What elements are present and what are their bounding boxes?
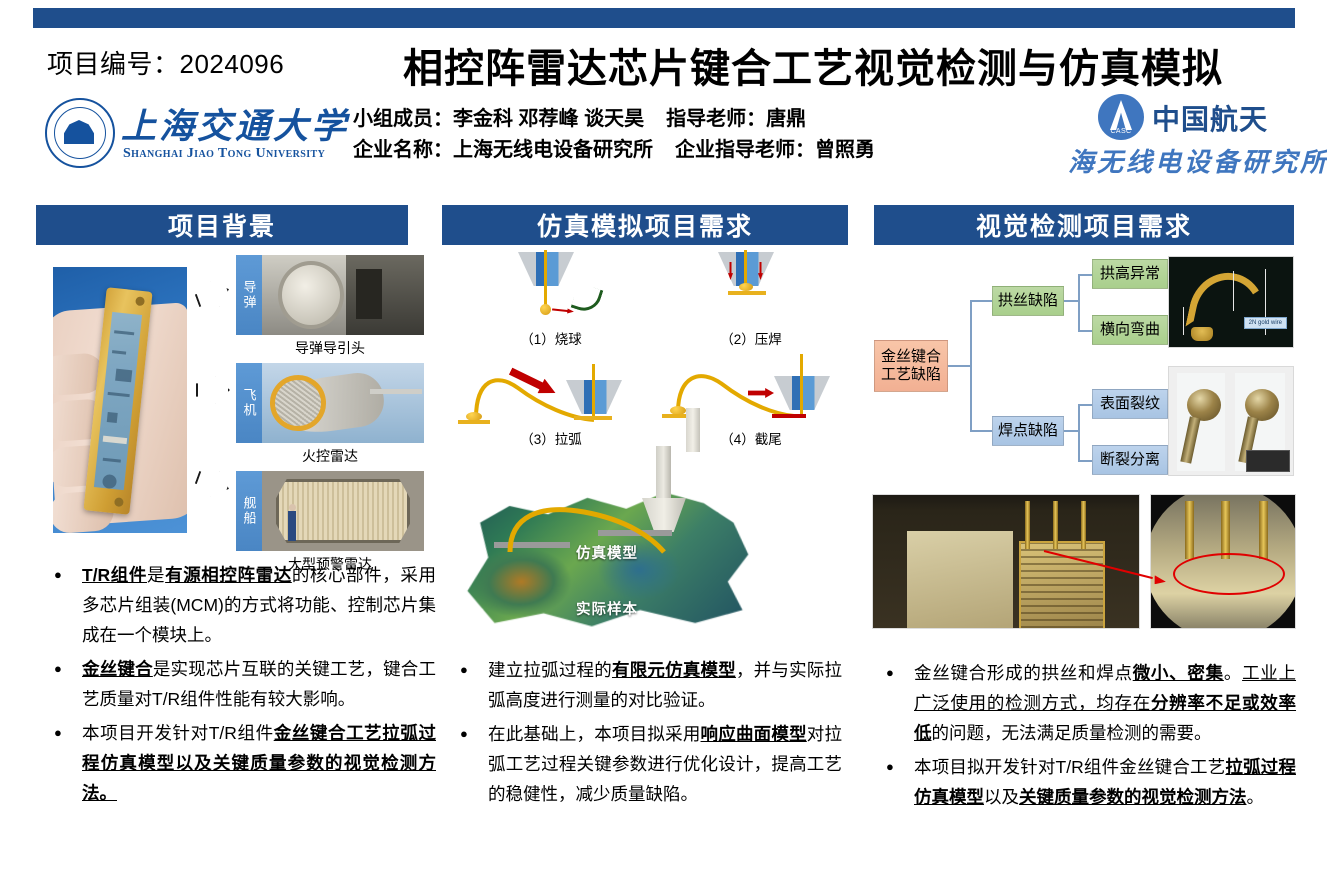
flow-connector [970, 430, 992, 432]
missile-seeker-photo [262, 255, 424, 335]
flattened-ball [739, 283, 753, 291]
bullet-item: 金丝键合是实现芯片互联的关键工艺，键合工艺质量对T/R组件性能有较大影响。 [44, 654, 436, 714]
sjtu-name-en: Shanghai Jiao Tong University [123, 146, 325, 162]
chip-bond-photo [872, 494, 1140, 629]
application-tab-label: 导弹 [236, 255, 262, 335]
bullet-item: 本项目拟开发针对T/R组件金丝键合工艺拉弧过程仿真模型以及关键质量参数的视觉检测… [876, 752, 1296, 812]
flow-connector [1078, 274, 1080, 330]
bond-step-label: （2）压焊 [656, 328, 846, 348]
bond-step-label: （4）截尾 [656, 428, 846, 448]
sim-model-label: 仿真模型 [576, 542, 638, 563]
bond-pad [728, 291, 766, 295]
casc-logo: CASC 中国航天 海无线电设备研究所 [1068, 92, 1298, 184]
application-caption: 火控雷达 [236, 443, 424, 466]
bond-pad [458, 420, 490, 424]
bullet-text-run: 。 [1224, 663, 1242, 683]
company-advisor-value: 曾照勇 [815, 139, 875, 161]
company-label: 企业名称： [353, 139, 453, 161]
bullet-text-run: 本项目拟开发针对T/R组件金丝键合工艺 [914, 757, 1225, 777]
arrow-right-icon [192, 275, 234, 315]
flow-node-wire-defect: 拱丝缺陷 [992, 286, 1064, 316]
poster-header: 项目编号：2024096 相控阵雷达芯片键合工艺视觉检测与仿真模拟 上海交通大学… [33, 28, 1295, 188]
bond-inspection-photos [872, 494, 1296, 629]
torch-electrode-icon [571, 283, 604, 316]
flow-connector [948, 365, 970, 367]
bullet-item: 本项目开发针对T/R组件金丝键合工艺拉弧过程仿真模型以及关键质量参数的视觉检测方… [44, 718, 436, 808]
team-info-line2: 企业名称：上海无线电设备研究所企业指导老师：曾照勇 [353, 135, 875, 166]
bullet-text-run: 有源相控阵雷达 [165, 565, 292, 585]
bullet-text-run: 建立拉弧过程的 [488, 660, 612, 680]
microscope-info-overlay [1246, 450, 1290, 472]
application-caption: 导弹导引头 [236, 335, 424, 358]
bullet-item: 在此基础上，本项目拟采用响应曲面模型对拉弧工艺过程关键参数进行优化设计，提高工艺… [450, 719, 842, 809]
column-background: 导弹 导弹导引头 飞机 火控雷达 舰船 大型 [36, 250, 436, 870]
application-tab-label: 飞机 [236, 363, 262, 443]
sjtu-name-cn: 上海交通大学 [121, 98, 349, 149]
bond-step-2: （2）压焊 [656, 250, 846, 350]
gold-wire [544, 250, 547, 308]
application-item-ship: 舰船 大型预警雷达 [236, 471, 424, 574]
casc-name: 中国航天 [1152, 98, 1268, 138]
defect-flowchart: 金丝键合 工艺缺陷 拱丝缺陷 焊点缺陷 拱高异常 横向弯曲 表面裂纹 断裂分离 [872, 254, 1168, 482]
casc-mark-text: CASC [1098, 128, 1144, 135]
defect-highlight-ellipse [1173, 553, 1285, 595]
bullet-text-run: 的问题，无法满足质量检测的需要。 [932, 723, 1212, 743]
arrow-right-icon [192, 463, 234, 503]
red-arrow-icon [552, 307, 574, 314]
casc-institute-name: 海无线电设备研究所 [1068, 142, 1327, 179]
flow-connector [1064, 300, 1078, 302]
advisor-value: 唐鼎 [766, 108, 806, 130]
bullet-text-run: 金丝键合 [82, 659, 153, 679]
sjtu-seal-icon [45, 98, 115, 168]
bullet-text-run: T/R组件 [82, 565, 147, 585]
vision-bullet-list: 金丝键合形成的拱丝和焊点微小、密集。工业上广泛使用的检测方式，均存在分辨率不足或… [876, 658, 1296, 816]
simulation-bullet-list: 建立拉弧过程的有限元仿真模型，并与实际拉弧高度进行测量的对比验证。在此基础上，本… [450, 655, 842, 813]
flow-connector [1078, 404, 1080, 460]
bond-step-1: （1）烧球 [456, 250, 646, 350]
sjtu-logo: 上海交通大学 Shanghai Jiao Tong University [41, 94, 331, 182]
chip-substrate-shape [907, 531, 1013, 629]
early-warning-radar-photo [262, 471, 424, 551]
flow-leaf-arc-height: 拱高异常 [1092, 259, 1168, 289]
bullet-item: 金丝键合形成的拱丝和焊点微小、密集。工业上广泛使用的检测方式，均存在分辨率不足或… [876, 658, 1296, 748]
bond-step-label: （3）拉弧 [456, 428, 646, 448]
bond-step-3: （3）拉弧 [456, 350, 646, 450]
wire-loop-measurement-photo: 2N gold wire [1168, 256, 1294, 348]
bullet-text-run: 是 [147, 565, 165, 585]
column-vision: 金丝键合 工艺缺陷 拱丝缺陷 焊点缺陷 拱高异常 横向弯曲 表面裂纹 断裂分离 [868, 250, 1296, 870]
column-simulation: （1）烧球 （2）压焊 （3）拉弧 [442, 250, 852, 870]
flow-root-node: 金丝键合 工艺缺陷 [874, 340, 948, 392]
team-info-line1: 小组成员：李金科 邓荐峰 谈天昊指导老师：唐鼎 [353, 104, 875, 135]
section-header-vision: 视觉检测项目需求 [874, 205, 1294, 245]
top-accent-bar [33, 8, 1295, 28]
flow-leaf-lateral-bend: 横向弯曲 [1092, 315, 1168, 345]
bullet-text-run: 关键质量参数的视觉检测方法 [1019, 787, 1247, 807]
measurement-tag: 2N gold wire [1244, 317, 1287, 329]
flow-connector [970, 300, 972, 432]
flow-connector [970, 300, 992, 302]
arrow-right-icon [196, 375, 230, 405]
capillary-rod-shape [656, 446, 671, 502]
bonding-process-diagram: （1）烧球 （2）压焊 （3）拉弧 [450, 250, 850, 450]
members-value: 李金科 邓荐峰 谈天昊 [453, 108, 644, 130]
bullet-text-run: 金丝键合形成的拱丝和焊点 [914, 663, 1133, 683]
section-header-simulation: 仿真模拟项目需求 [442, 205, 848, 245]
flow-connector [1078, 330, 1092, 332]
gold-wire [744, 250, 747, 286]
bond-step-4: （4）截尾 [656, 350, 846, 450]
flow-connector [1078, 460, 1092, 462]
flow-leaf-fracture: 断裂分离 [1092, 445, 1168, 475]
application-tab-label: 舰船 [236, 471, 262, 551]
bond-pad [574, 416, 612, 420]
wire-arc [462, 364, 602, 422]
flow-connector [1078, 274, 1092, 276]
bullet-item: T/R组件是有源相控阵雷达的核心部件，采用多芯片组装(MCM)的方式将功能、控制… [44, 560, 436, 650]
wire-base-shape [1191, 327, 1213, 341]
bond-step-label: （1）烧球 [456, 328, 646, 348]
bullet-text-run: 。 [1247, 787, 1265, 807]
flow-leaf-surface-crack: 表面裂纹 [1092, 389, 1168, 419]
company-advisor-label: 企业指导老师： [675, 139, 815, 161]
bullet-text-run: 有限元仿真模型 [612, 660, 736, 680]
bullet-text-run: 在此基础上，本项目拟采用 [488, 724, 701, 744]
team-info: 小组成员：李金科 邓荐峰 谈天昊指导老师：唐鼎 企业名称：上海无线电设备研究所企… [353, 104, 875, 166]
flow-node-joint-defect: 焊点缺陷 [992, 416, 1064, 446]
project-number: 项目编号：2024096 [47, 44, 284, 81]
fem-simulation-figure: 仿真模型 实际样本 [460, 446, 790, 641]
bullet-text-run: 本项目开发针对T/R组件 [82, 723, 274, 743]
flow-connector [1064, 430, 1078, 432]
page-title: 相控阵雷达芯片键合工艺视觉检测与仿真模拟 [333, 36, 1293, 94]
gold-ball [540, 304, 551, 315]
bullet-text-run: 以及 [984, 787, 1019, 807]
company-value: 上海无线电设备研究所 [453, 139, 653, 161]
bullet-item: 建立拉弧过程的有限元仿真模型，并与实际拉弧高度进行测量的对比验证。 [450, 655, 842, 715]
bullet-text-run: 响应曲面模型 [701, 724, 807, 744]
poster-root: 项目编号：2024096 相控阵雷达芯片键合工艺视觉检测与仿真模拟 上海交通大学… [0, 0, 1327, 878]
ball-bond-microscope-photo [1168, 366, 1294, 476]
actual-sample-label: 实际样本 [576, 598, 638, 619]
application-item-aircraft: 飞机 火控雷达 [236, 363, 424, 466]
flow-connector [1078, 404, 1092, 406]
zoomed-bond-photo [1150, 494, 1296, 629]
application-item-missile: 导弹 导弹导引头 [236, 255, 424, 358]
members-label: 小组成员： [353, 108, 453, 130]
background-bullet-list: T/R组件是有源相控阵雷达的核心部件，采用多芯片组装(MCM)的方式将功能、控制… [44, 560, 436, 812]
fire-control-radar-photo [262, 363, 424, 443]
casc-rocket-icon: CASC [1098, 94, 1144, 140]
bullet-text-run: 微小、密集 [1133, 663, 1224, 683]
advisor-label: 指导老师： [666, 108, 766, 130]
section-header-background: 项目背景 [36, 205, 408, 245]
tr-module-photo [53, 267, 187, 533]
tail-cut-marker [772, 414, 806, 418]
